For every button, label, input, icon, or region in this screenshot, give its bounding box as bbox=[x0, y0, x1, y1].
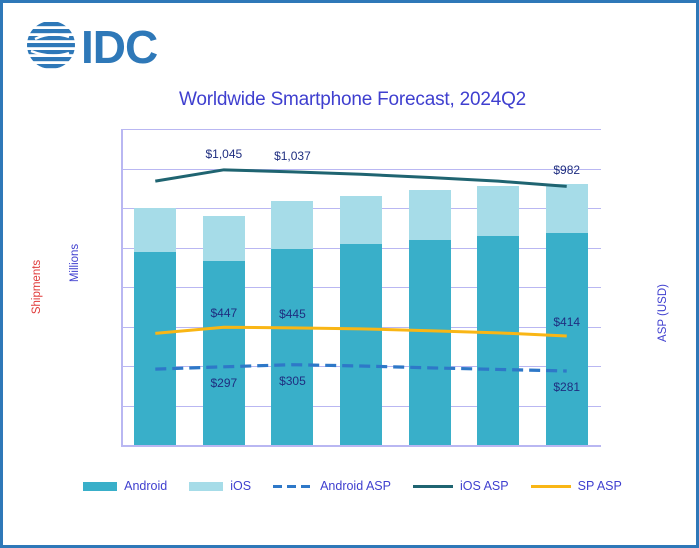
plot-area: 02004006008001000120014001600$-$200$400$… bbox=[121, 129, 601, 445]
legend-swatch bbox=[83, 482, 117, 491]
data-label: $447 bbox=[210, 306, 237, 320]
legend-label: Android ASP bbox=[320, 479, 391, 493]
y-axis-title-asp: ASP (USD) bbox=[657, 284, 669, 342]
idc-logo: IDC bbox=[25, 19, 205, 71]
legend-swatch bbox=[531, 485, 571, 488]
data-label: $1,037 bbox=[274, 149, 311, 163]
line-sp-asp[interactable] bbox=[155, 327, 566, 336]
legend-item-sp-asp[interactable]: SP ASP bbox=[531, 479, 622, 493]
page-title: Worldwide Smartphone Forecast, 2024Q2 bbox=[3, 89, 699, 111]
legend-label: Android bbox=[124, 479, 167, 493]
chart-page: IDC Worldwide Smartphone Forecast, 2024Q… bbox=[0, 0, 699, 548]
data-label: $414 bbox=[553, 315, 580, 329]
y-axis-title-shipments: Shipments bbox=[31, 260, 43, 314]
data-label: $281 bbox=[553, 380, 580, 394]
data-label: $1,045 bbox=[205, 147, 242, 161]
line-android-asp[interactable] bbox=[155, 365, 566, 371]
legend-label: iOS bbox=[230, 479, 251, 493]
legend-swatch bbox=[413, 485, 453, 488]
chart-legend: AndroidiOSAndroid ASPiOS ASPSP ASP bbox=[3, 479, 699, 493]
legend-swatch bbox=[189, 482, 223, 491]
data-label: $305 bbox=[279, 374, 306, 388]
svg-text:IDC: IDC bbox=[81, 21, 157, 71]
legend-item-android[interactable]: Android bbox=[83, 479, 167, 493]
legend-label: iOS ASP bbox=[460, 479, 509, 493]
legend-item-ios[interactable]: iOS bbox=[189, 479, 251, 493]
y-axis-units-millions: Millions bbox=[69, 244, 81, 282]
line-ios-asp[interactable] bbox=[155, 170, 566, 187]
legend-item-ios-asp[interactable]: iOS ASP bbox=[413, 479, 509, 493]
x-axis-line bbox=[121, 445, 601, 447]
data-label: $445 bbox=[279, 307, 306, 321]
line-series-overlay bbox=[121, 129, 601, 445]
legend-label: SP ASP bbox=[578, 479, 622, 493]
legend-item-android-asp[interactable]: Android ASP bbox=[273, 479, 391, 493]
data-label: $297 bbox=[210, 376, 237, 390]
data-label: $982 bbox=[553, 163, 580, 177]
y-axis-line bbox=[121, 129, 123, 445]
legend-swatch bbox=[273, 485, 313, 488]
